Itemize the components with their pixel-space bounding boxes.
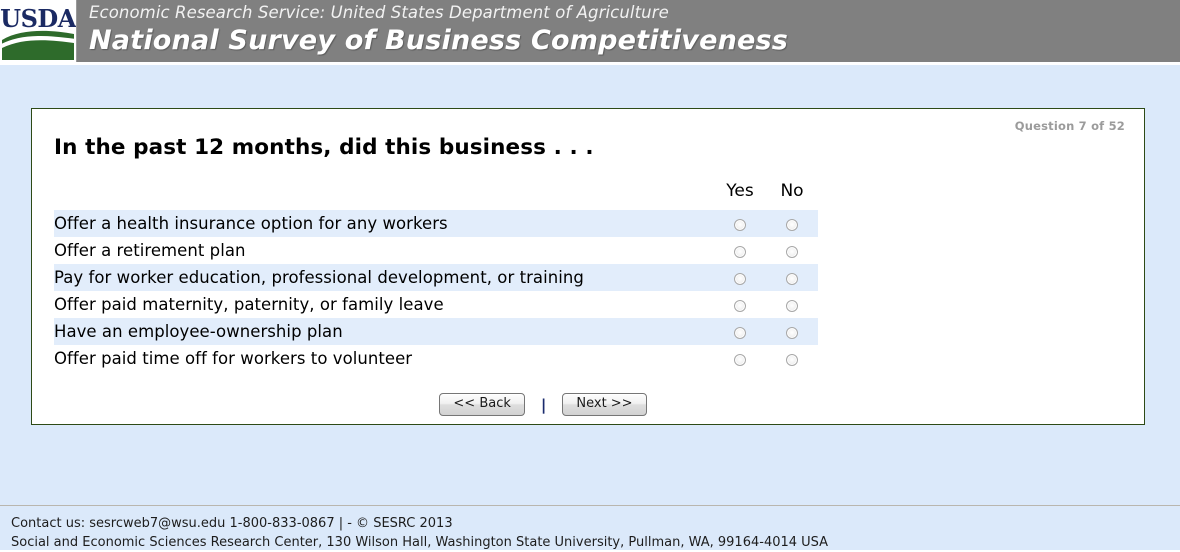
table-row: Offer a retirement plan — [54, 237, 818, 264]
back-button[interactable]: << Back — [439, 393, 524, 416]
radio-cell-no[interactable] — [766, 345, 818, 372]
radio-yes-4[interactable] — [734, 327, 746, 339]
row-label: Have an employee-ownership plan — [54, 318, 714, 345]
radio-cell-yes[interactable] — [714, 345, 766, 372]
site-header: USDA Economic Research Service: United S… — [0, 0, 1180, 62]
usda-logo-graphic: USDA — [0, 0, 76, 62]
site-footer: Contact us: sesrcweb7@wsu.edu 1-800-833-… — [0, 505, 1180, 550]
row-label: Offer paid maternity, paternity, or fami… — [54, 291, 714, 318]
table-row: Offer a health insurance option for any … — [54, 210, 818, 237]
column-header-yes: Yes — [714, 181, 766, 210]
radio-yes-0[interactable] — [734, 219, 746, 231]
page-body: Question 7 of 52 In the past 12 months, … — [0, 65, 1180, 505]
header-text-block: Economic Research Service: United States… — [77, 0, 1180, 62]
radio-no-1[interactable] — [786, 246, 798, 258]
agency-line: Economic Research Service: United States… — [89, 2, 1180, 24]
navigation-row: << Back | Next >> — [32, 393, 1146, 416]
question-grid: Yes No Offer a health insurance option f… — [54, 181, 818, 372]
svg-text:USDA: USDA — [0, 4, 76, 33]
usda-logo: USDA — [0, 0, 77, 62]
footer-address-line: Social and Economic Sciences Research Ce… — [11, 533, 1180, 552]
table-row: Offer paid time off for workers to volun… — [54, 345, 818, 372]
page-title: In the past 12 months, did this business… — [54, 135, 594, 160]
radio-cell-yes[interactable] — [714, 291, 766, 318]
radio-cell-yes[interactable] — [714, 237, 766, 264]
radio-no-4[interactable] — [786, 327, 798, 339]
radio-cell-no[interactable] — [766, 237, 818, 264]
radio-cell-yes[interactable] — [714, 210, 766, 237]
table-row: Offer paid maternity, paternity, or fami… — [54, 291, 818, 318]
column-header-no: No — [766, 181, 818, 210]
row-label: Offer a retirement plan — [54, 237, 714, 264]
table-head: Yes No — [54, 181, 818, 210]
radio-cell-no[interactable] — [766, 318, 818, 345]
table-row: Pay for worker education, professional d… — [54, 264, 818, 291]
table-row: Have an employee-ownership plan — [54, 318, 818, 345]
next-button[interactable]: Next >> — [562, 393, 646, 416]
question-counter: Question 7 of 52 — [1015, 119, 1125, 133]
row-label: Offer paid time off for workers to volun… — [54, 345, 714, 372]
row-label: Pay for worker education, professional d… — [54, 264, 714, 291]
radio-yes-2[interactable] — [734, 273, 746, 285]
table-body: Offer a health insurance option for any … — [54, 210, 818, 372]
footer-contact-line: Contact us: sesrcweb7@wsu.edu 1-800-833-… — [11, 514, 1180, 533]
radio-no-5[interactable] — [786, 354, 798, 366]
row-label: Offer a health insurance option for any … — [54, 210, 714, 237]
survey-title: National Survey of Business Competitiven… — [89, 24, 1180, 58]
radio-yes-1[interactable] — [734, 246, 746, 258]
content-panel: Question 7 of 52 In the past 12 months, … — [31, 108, 1145, 425]
radio-cell-no[interactable] — [766, 291, 818, 318]
radio-no-3[interactable] — [786, 300, 798, 312]
radio-yes-3[interactable] — [734, 300, 746, 312]
radio-cell-no[interactable] — [766, 264, 818, 291]
radio-no-0[interactable] — [786, 219, 798, 231]
radio-no-2[interactable] — [786, 273, 798, 285]
table-header-row: Yes No — [54, 181, 818, 210]
column-header-label — [54, 181, 714, 210]
radio-cell-no[interactable] — [766, 210, 818, 237]
nav-divider: | — [535, 396, 552, 414]
radio-cell-yes[interactable] — [714, 318, 766, 345]
radio-cell-yes[interactable] — [714, 264, 766, 291]
radio-yes-5[interactable] — [734, 354, 746, 366]
question-table: Yes No Offer a health insurance option f… — [54, 181, 818, 372]
